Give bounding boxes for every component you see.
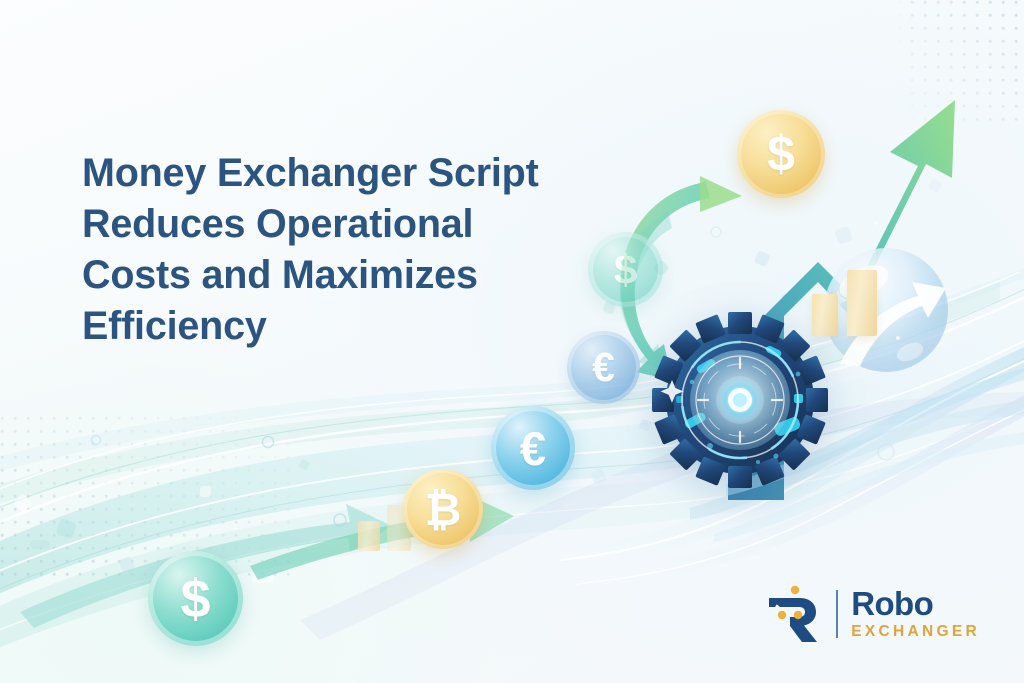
brand-logo[interactable]: Robo EXCHANGER bbox=[767, 585, 980, 643]
logo-wordmark: Robo EXCHANGER bbox=[851, 587, 980, 641]
robo-r-monogram-icon bbox=[767, 585, 823, 643]
coin-symbol: $ bbox=[180, 572, 210, 626]
coin-usd-mint-small: $ bbox=[588, 232, 663, 307]
coin-symbol: $ bbox=[614, 249, 637, 291]
bar-left-1 bbox=[358, 521, 380, 551]
coin-symbol: € bbox=[592, 347, 615, 388]
coin-symbol: $ bbox=[767, 129, 795, 179]
tech-gear-hud bbox=[648, 308, 832, 492]
coin-usd-mint-large: $ bbox=[148, 551, 243, 646]
page-title: Money Exchanger Script Reduces Operation… bbox=[82, 148, 582, 352]
hero-banner: $ $ € € ₿ $ Money Exchanger Script Reduc… bbox=[0, 0, 1024, 683]
bar-right-2 bbox=[847, 270, 877, 336]
logo-primary-text: Robo bbox=[851, 587, 980, 621]
coin-usd-gold: $ bbox=[737, 110, 825, 198]
coin-symbol: € bbox=[520, 425, 546, 472]
logo-secondary-text: EXCHANGER bbox=[851, 622, 980, 641]
coin-eur-blue: € bbox=[491, 406, 575, 490]
coin-symbol: ₿ bbox=[425, 487, 462, 532]
coin-bitcoin: ₿ bbox=[403, 469, 483, 549]
logo-divider bbox=[836, 590, 838, 638]
